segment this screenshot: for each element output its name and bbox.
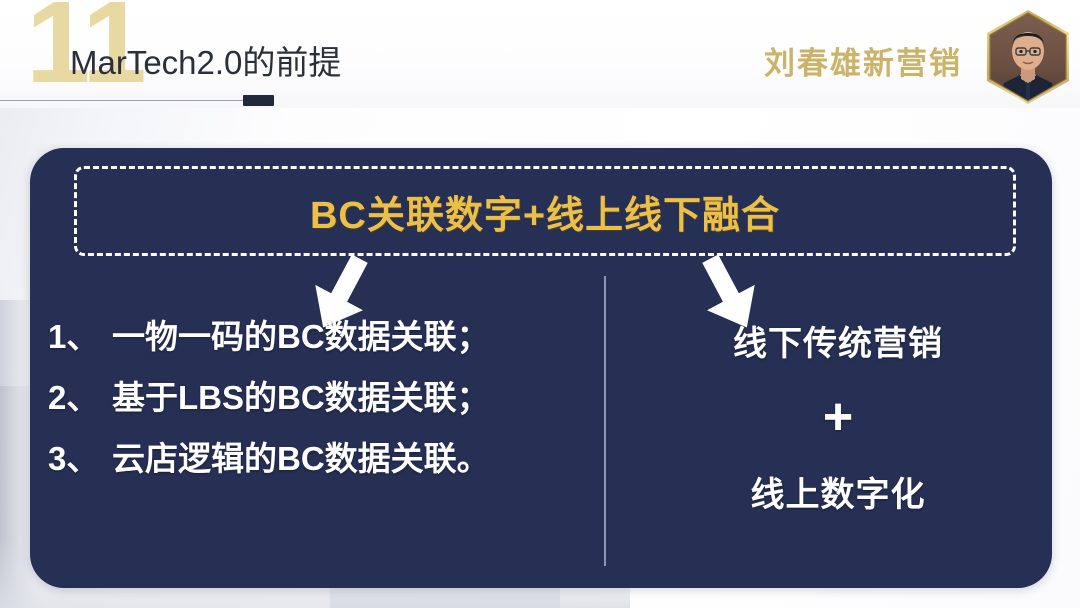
list-item: 1、 一物一码的BC数据关联； [48,320,588,353]
slide-root: 11 MarTech2.0的前提 刘春雄新营销 [0,0,1080,608]
list-item: 3、 云店逻辑的BC数据关联。 [48,442,588,475]
right-column: 线下传统营销 + 线上数字化 [638,316,1038,516]
list-item-index: 1、 [48,320,112,353]
slide-header: 11 MarTech2.0的前提 刘春雄新营销 [0,0,1080,112]
avatar [984,9,1072,105]
list-item-label: 一物一码的BC数据关联； [112,320,490,353]
brand-name: 刘春雄新营销 [764,38,962,83]
header-divider-line [0,100,246,101]
right-column-line-1: 线下传统营销 [638,316,1038,365]
list-item-label: 云店逻辑的BC数据关联。 [112,442,490,475]
right-column-plus-symbol: + [638,391,1038,443]
portrait-avatar-icon [984,9,1072,105]
list-item: 2、 基于LBS的BC数据关联； [48,381,588,414]
list-item-index: 3、 [48,442,112,475]
list-item-index: 2、 [48,381,112,414]
headline-box: BC关联数字+线上线下融合 [74,166,1016,256]
headline-text: BC关联数字+线上线下融合 [310,184,780,239]
list-item-label: 基于LBS的BC数据关联； [112,381,490,414]
content-panel: BC关联数字+线上线下融合 [30,148,1052,588]
right-column-line-2: 线上数字化 [638,467,1038,516]
page-title: MarTech2.0的前提 [70,36,341,84]
column-divider [604,276,606,566]
header-accent-marker [243,95,274,106]
left-column: 1、 一物一码的BC数据关联； 2、 基于LBS的BC数据关联； 3、 云店逻辑… [48,320,588,503]
